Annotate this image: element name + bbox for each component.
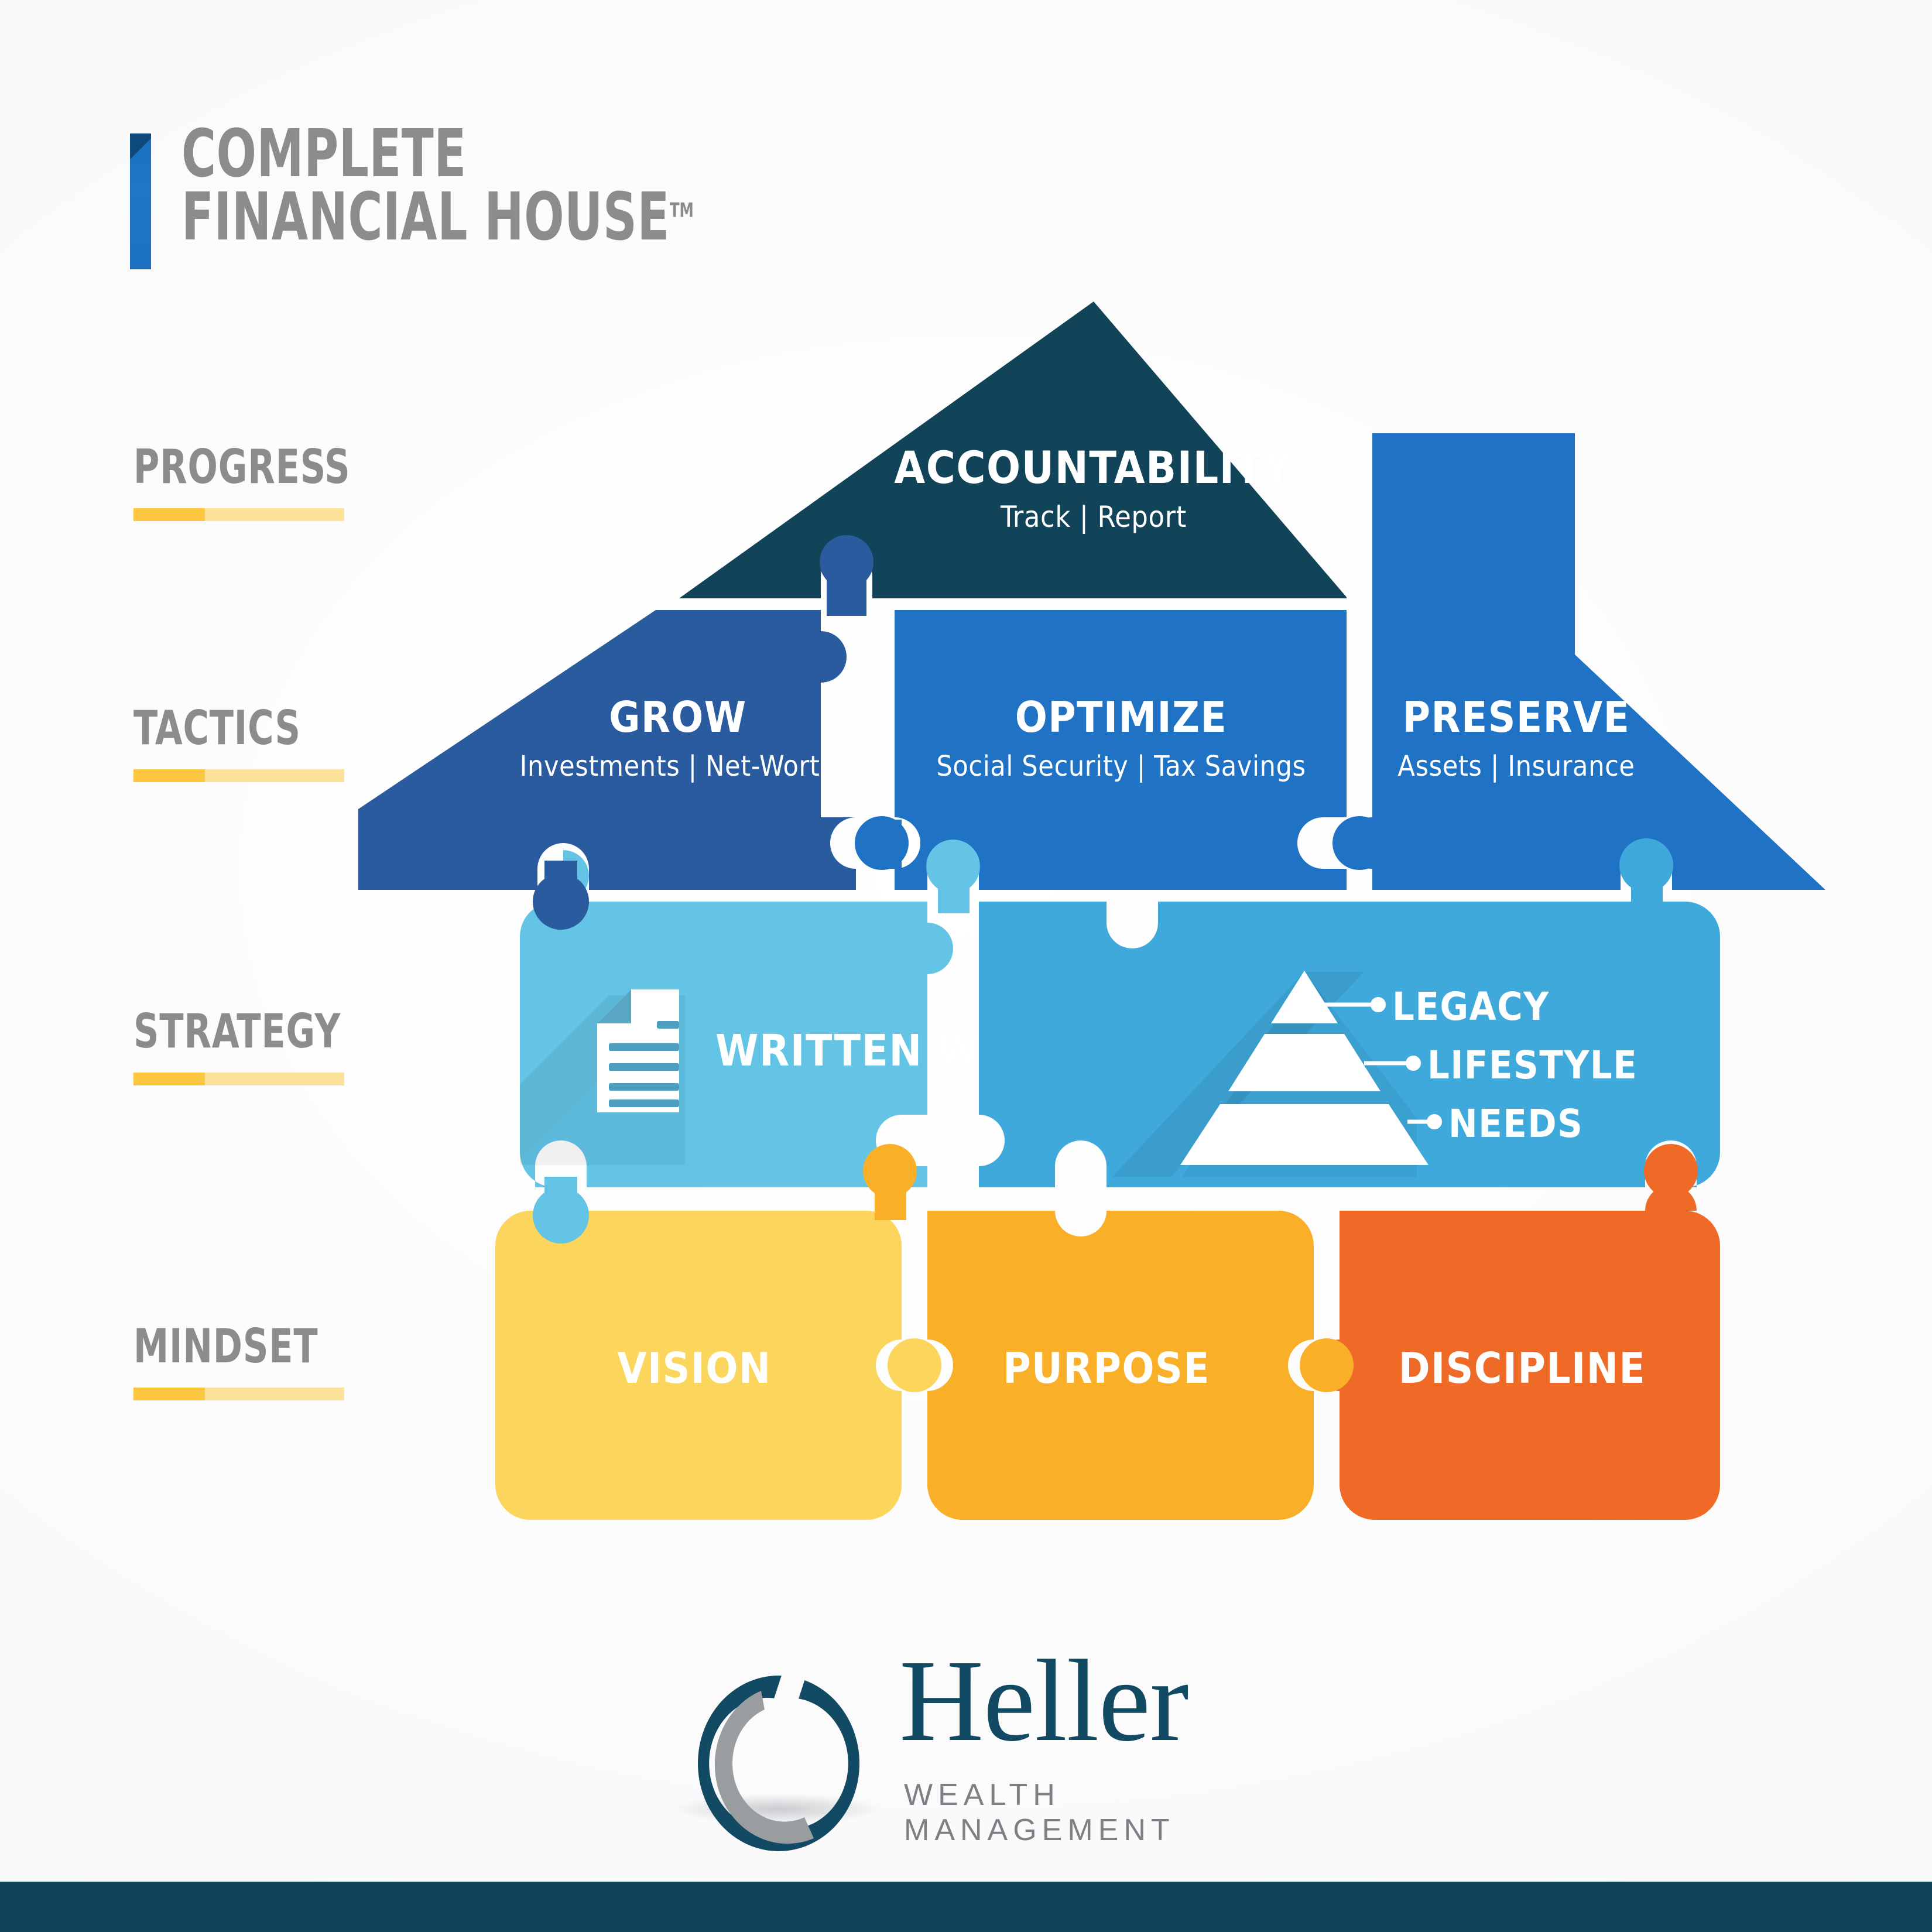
pyramid-icon-shadow [1112,972,1364,1177]
stage-bar-progress [133,508,344,521]
title-line-1: COMPLETE [181,123,694,186]
knob-grow-wealthplan-stem [544,861,577,905]
pyramid-icon-shadow-2 [1183,972,1417,1177]
grow-title: GROW [609,693,747,742]
purpose-shape [927,1211,1314,1520]
stage-label-strategy-text: STRATEGY [133,1008,341,1055]
title-accent-bar [130,133,151,269]
stage-label-mindset: MINDSET [133,1323,354,1400]
stage-bar-track [205,769,344,782]
knob-wealthplan-vision-stem [544,1177,577,1221]
knob-discipline-strategy-stem [1656,1171,1687,1220]
roof-subtitle: Track | Report [1000,500,1187,534]
strategy-pyramid-piece[interactable]: LEGACY LIFESTYLE NEEDS [979,902,1720,1187]
grow-shape [358,610,856,890]
stage-bar-track [205,1388,344,1400]
discipline-shape [1314,1185,1720,1520]
stage-bar-fill [133,1388,205,1400]
roof-accountability-piece[interactable]: ACCOUNTABILITY Track | Report [679,302,1347,603]
knob-optimize-pyramid-stem [938,866,970,913]
optimize-shape [895,610,1347,890]
wealth-plan-title: WRITTEN WEALTH PLAN [715,1026,1253,1076]
stage-label-progress-text: PROGRESS [133,444,351,491]
purpose-title: PURPOSE [1003,1344,1210,1393]
knob-roof-grow [820,535,873,589]
title-line-2-text: FINANCIAL HOUSE [181,179,670,255]
stage-bar-fill [133,1073,205,1085]
mindset-vision-piece[interactable]: VISION [495,1211,902,1520]
roof-title: ACCOUNTABILITY [894,441,1293,494]
pyramid-label-lifestyle: LIFESTYLE [1427,1043,1638,1088]
pyramid-leader-lines [1324,1005,1430,1122]
trademark-mark: TM [670,198,694,222]
pyramid-label-legacy: LEGACY [1392,984,1550,1029]
knob-purpose-strategy-stem [875,1171,906,1220]
page-title: COMPLETE FINANCIAL HOUSETM [130,133,822,269]
grow-subtitle: Investments | Net-Worth [520,750,837,783]
stage-bar-fill [133,769,205,782]
stage-bar-track [205,508,344,521]
tactics-grow-piece[interactable]: GROW Investments | Net-Worth [358,610,856,890]
stage-bar-tactics [133,769,344,782]
mindset-purpose-piece[interactable]: PURPOSE [927,1211,1314,1520]
vision-shape [495,1211,902,1520]
stage-label-tactics: TACTICS [133,705,344,782]
document-icon-shadow [520,995,685,1160]
stage-label-progress: PROGRESS [133,444,392,521]
tactics-optimize-piece[interactable]: OPTIMIZE Social Security | Tax Savings [895,610,1347,890]
stage-bar-track [205,1073,344,1085]
roof-shape [679,302,1347,598]
stage-label-strategy: STRATEGY [133,1008,381,1085]
stage-bar-mindset [133,1388,344,1400]
preserve-title: PRESERVE [1403,693,1630,742]
stage-bar-fill [133,508,205,521]
discipline-title: DISCIPLINE [1399,1344,1646,1393]
infographic-canvas: COMPLETE FINANCIAL HOUSETM PROGRESS TACT… [0,0,1932,1932]
title-text-group: COMPLETE FINANCIAL HOUSETM [181,123,822,249]
pyramid-icon [1180,971,1429,1165]
stage-label-tactics-text: TACTICS [133,705,310,752]
preserve-subtitle: Assets | Insurance [1397,750,1635,783]
stage-label-mindset-text: MINDSET [133,1323,318,1370]
pyramid-leader-dots [1371,997,1442,1129]
knob-grow-optimize-stem [876,820,902,869]
knob-grow-wealthplan [533,873,589,930]
knob-roof-grow-stem [827,562,866,616]
logo-wordmark: Heller [899,1643,1188,1760]
knob-wealthplan-vision [533,1187,589,1244]
stage-bar-strategy [133,1073,344,1085]
knob-preserve-pyramid [1619,838,1673,892]
optimize-title: OPTIMIZE [1015,693,1228,742]
optimize-subtitle: Social Security | Tax Savings [936,750,1306,783]
heller-logo: Heller WEALTH MANAGEMENT [691,1639,1241,1850]
pyramid-piece-shape [979,902,1720,1187]
knob-preserve-pyramid-stem [1631,865,1663,914]
knob-grow-optimize [855,816,909,870]
knob-purpose-strategy [863,1144,917,1198]
knob-optimize-preserve [1332,816,1386,870]
mindset-discipline-piece[interactable]: DISCIPLINE [1314,1185,1720,1520]
document-icon [597,989,679,1112]
knob-optimize-pyramid [926,840,980,893]
pyramid-label-needs: NEEDS [1448,1101,1583,1146]
wealth-plan-shape [520,850,953,1187]
strategy-written-wealth-plan-piece[interactable]: WRITTEN WEALTH PLAN [520,850,1253,1187]
knob-purpose-discipline [1300,1338,1354,1392]
logo-tagline: WEALTH MANAGEMENT [904,1777,1241,1848]
title-line-2: FINANCIAL HOUSETM [181,186,694,249]
footer-bar [0,1882,1932,1932]
knob-discipline-strategy [1644,1144,1698,1198]
knob-vision-purpose [888,1338,941,1392]
vision-title: VISION [617,1344,771,1393]
tactics-preserve-piece[interactable]: PRESERVE Assets | Insurance [1347,433,1825,890]
document-icon-shadow-2 [520,995,685,1165]
preserve-shape [1347,433,1825,890]
